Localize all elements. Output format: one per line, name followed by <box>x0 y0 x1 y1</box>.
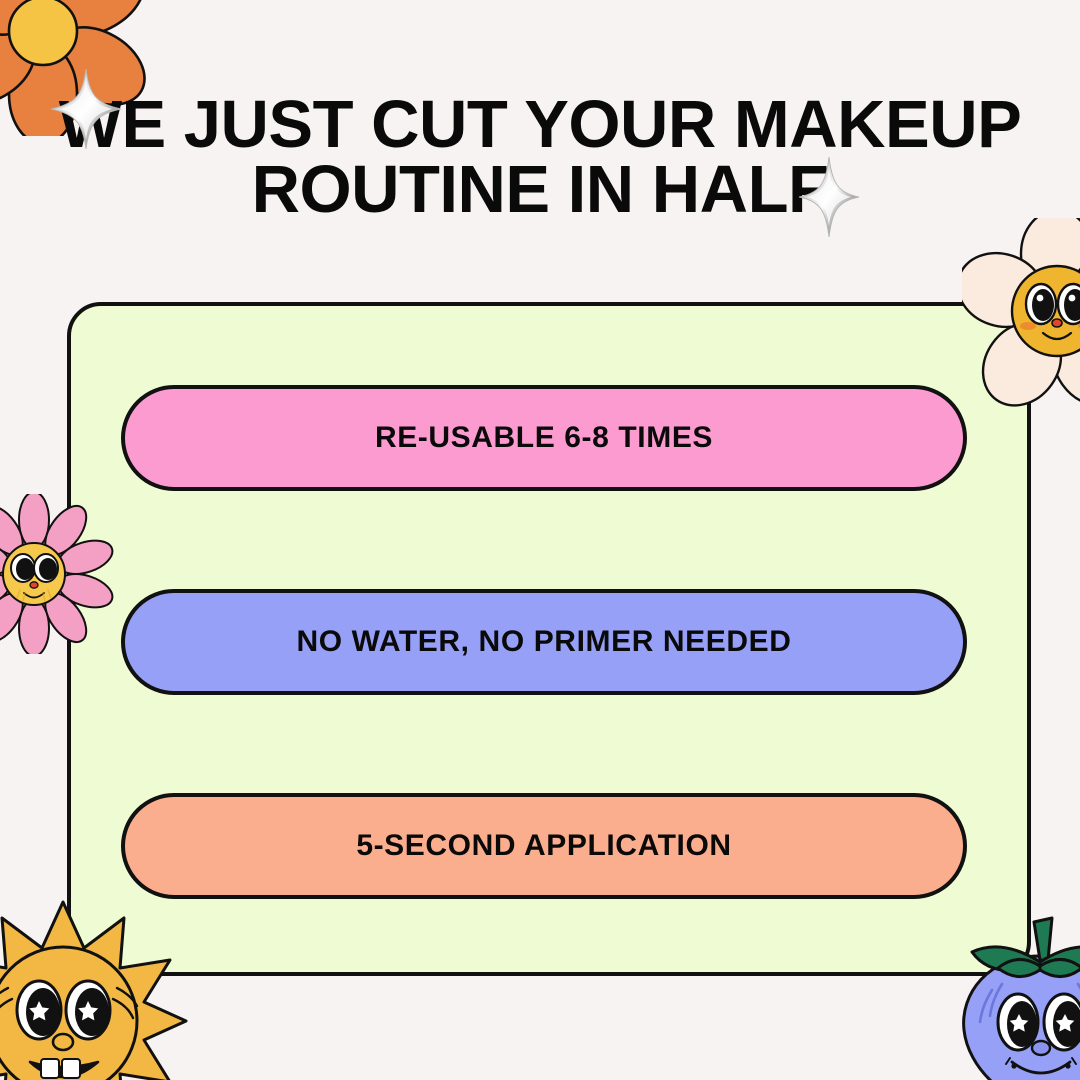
sparkle-icon <box>50 68 122 150</box>
daisy-face-icon <box>962 218 1080 408</box>
flower-face-icon <box>0 494 114 654</box>
feature-pill-reusable[interactable]: RE-USABLE 6-8 TIMES <box>121 385 967 491</box>
sparkle-star-left <box>50 68 122 150</box>
smiling-daisy-decoration <box>962 218 1080 408</box>
headline-line-2: ROUTINE IN HALF <box>0 157 1080 222</box>
headline-line-1: WE JUST CUT YOUR MAKEUP <box>0 92 1080 157</box>
features-card: RE-USABLE 6-8 TIMES NO WATER, NO PRIMER … <box>67 302 1031 976</box>
sparkle-icon <box>798 156 860 238</box>
sun-face-icon <box>0 896 188 1080</box>
feature-pill-label: 5-SECOND APPLICATION <box>356 829 731 863</box>
strawberry-face-icon <box>948 912 1080 1080</box>
feature-pill-no-water[interactable]: NO WATER, NO PRIMER NEEDED <box>121 589 967 695</box>
feature-pill-label: RE-USABLE 6-8 TIMES <box>375 421 713 455</box>
feature-pill-label: NO WATER, NO PRIMER NEEDED <box>296 625 791 659</box>
sparkle-star-right <box>798 156 860 238</box>
poster-canvas: WE JUST CUT YOUR MAKEUP ROUTINE IN HALF <box>0 0 1080 1080</box>
smiling-strawberry-decoration <box>948 912 1080 1080</box>
smiling-sun-decoration <box>0 896 188 1080</box>
feature-pill-fast-application[interactable]: 5-SECOND APPLICATION <box>121 793 967 899</box>
smiling-pink-flower-decoration <box>0 494 114 654</box>
page-title: WE JUST CUT YOUR MAKEUP ROUTINE IN HALF <box>0 92 1080 222</box>
